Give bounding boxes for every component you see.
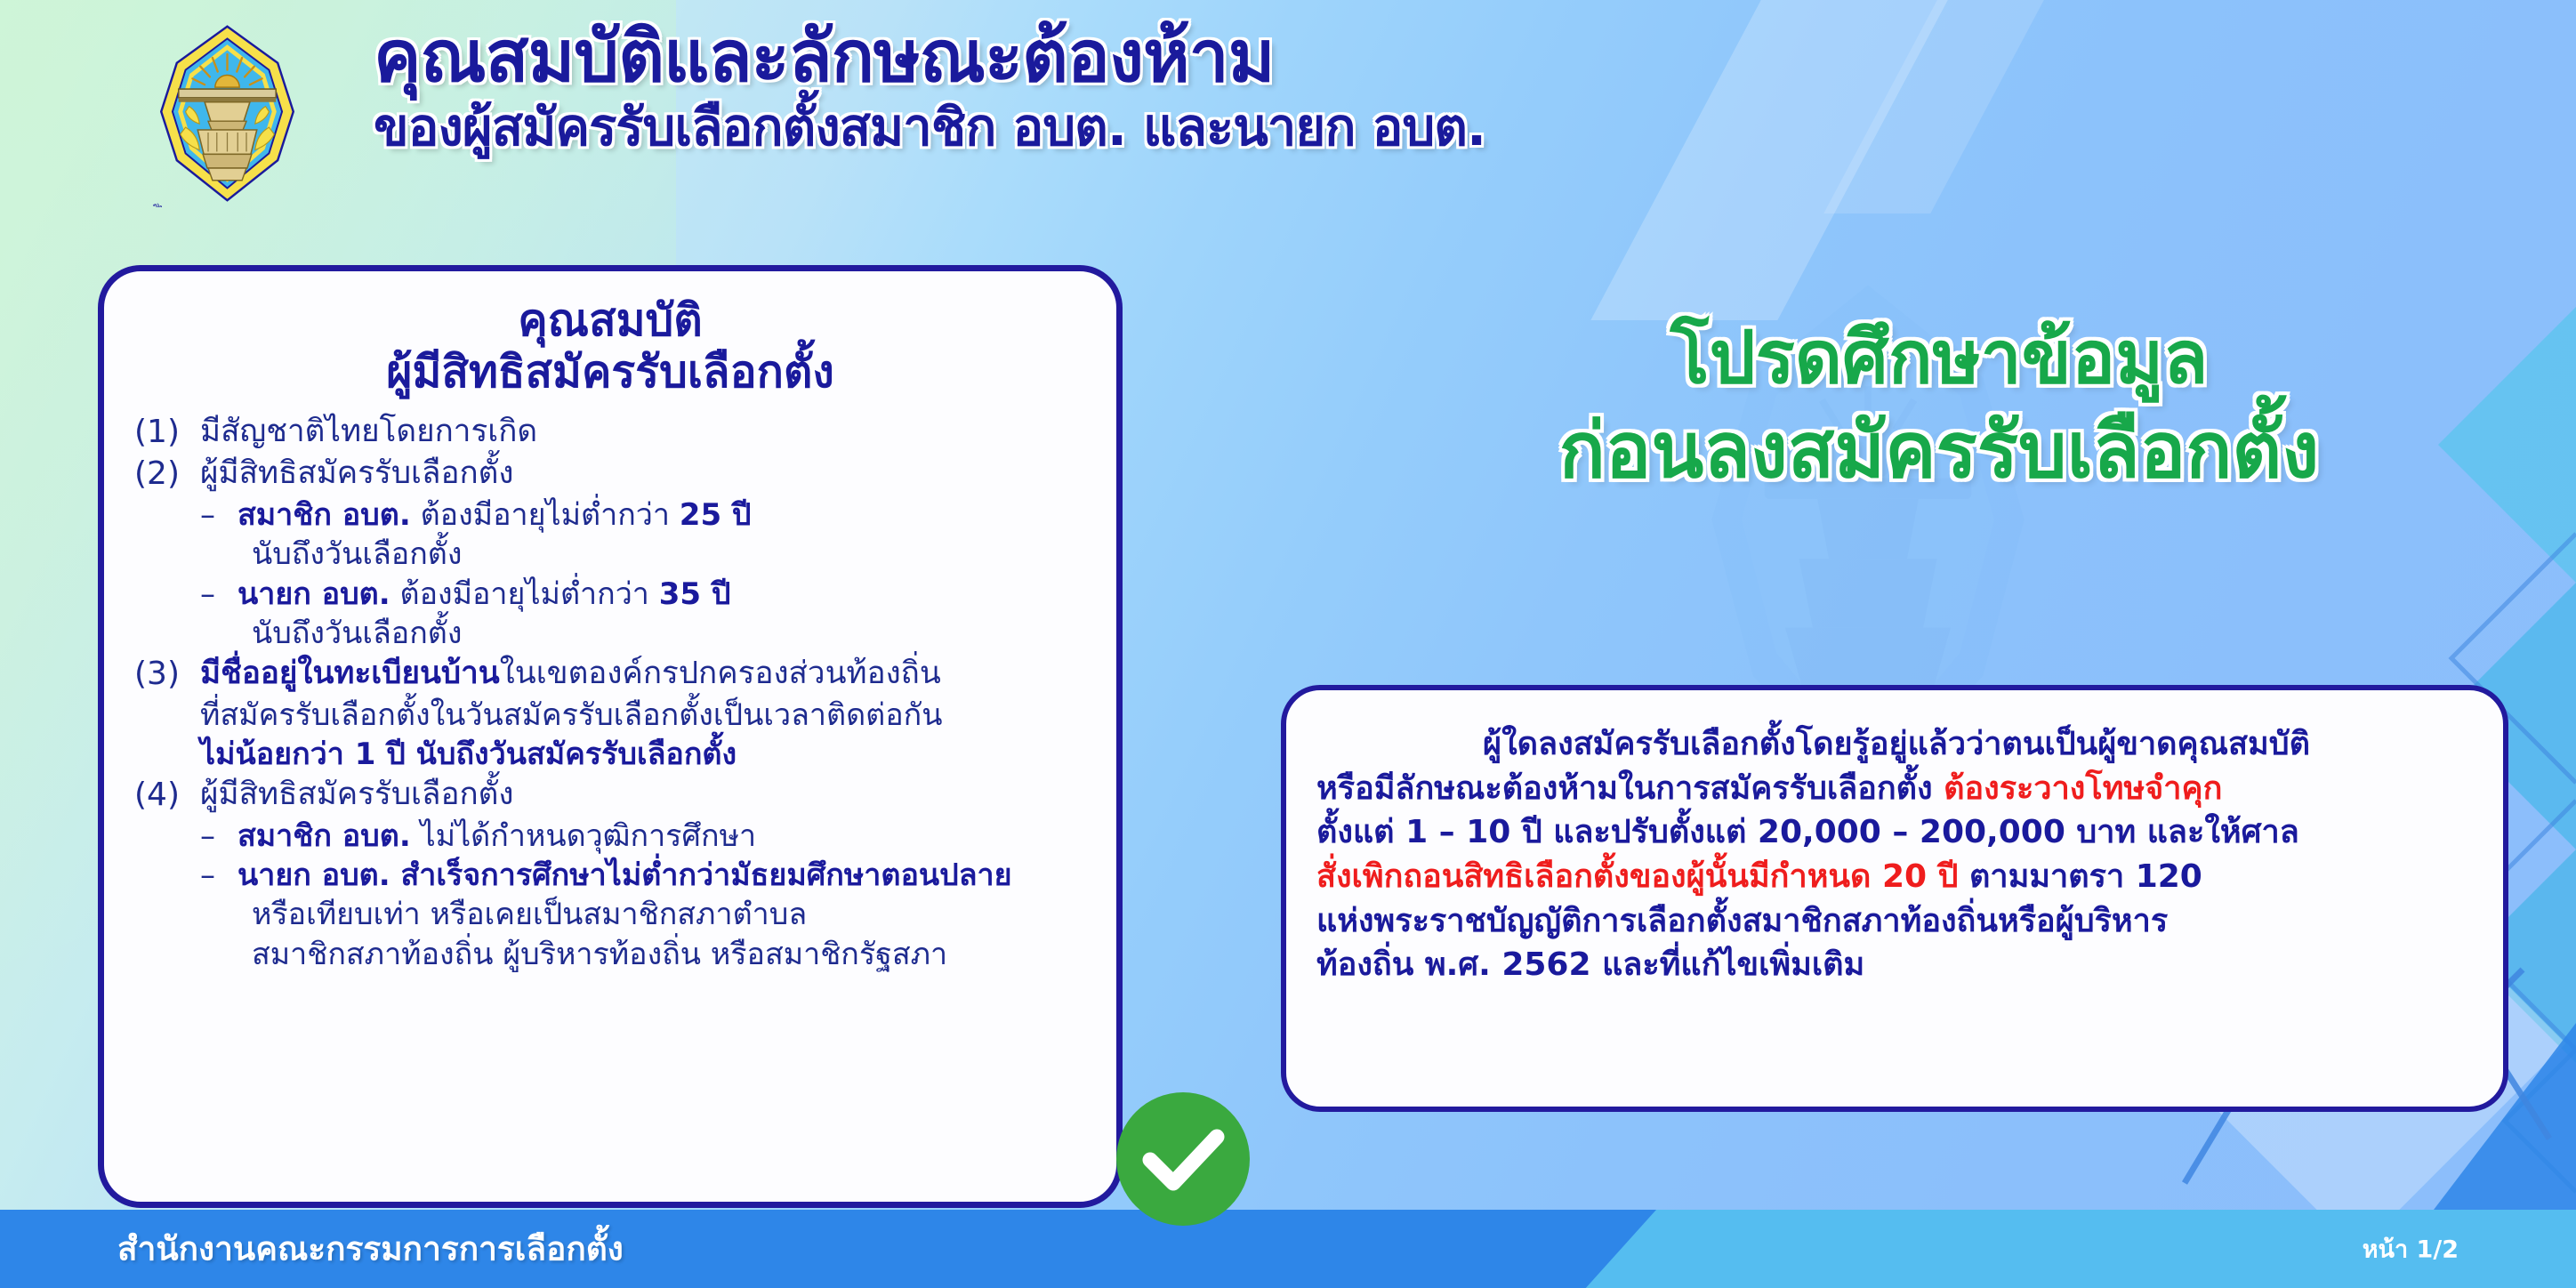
penalty-line-2-blue: หรือมีลักษณะต้องห้ามในการสมัครรับเลือกตั… [1316,770,1944,807]
dash-marker: – [200,856,237,895]
svg-text:สำนักงานคณะกรรมการการเลือกตั้ง: สำนักงานคณะกรรมการการเลือกตั้ง [150,202,272,207]
qualifications-heading-line-1: คุณสมบัติ [134,294,1086,346]
dash-marker: – [200,495,237,535]
study-info-line-2: ก่อนลงสมัครรับเลือกตั้ง [1316,404,2562,499]
footer: สำนักงานคณะกรรมการการเลือกตั้ง หน้า 1/2 [0,1210,2576,1288]
item-text: มีสัญชาติไทยโดยการเกิด [200,412,1086,453]
item-number: (2) [134,454,200,495]
footer-page-number: หน้า 1/2 [2363,1230,2459,1268]
title-line-1: คุณสมบัติและลักษณะต้องห้าม [374,20,1485,94]
sub-item-continuation: นับถึงวันเลือกตั้ง [134,614,1086,654]
study-info-line-1: โปรดศึกษาข้อมูล [1316,313,2562,404]
qualifications-card-heading: คุณสมบัติ ผู้มีสิทธิสมัครรับเลือกตั้ง [134,294,1086,398]
study-info-heading: โปรดศึกษาข้อมูล ก่อนลงสมัครรับเลือกตั้ง [1316,313,2562,498]
item-number: (3) [134,654,200,696]
sub-item-value: 25 ปี [680,497,752,533]
sub-item: – นายก อบต. สำเร็จการศึกษาไม่ต่ำกว่ามัธย… [134,856,1086,895]
qualifications-heading-line-2: ผู้มีสิทธิสมัครรับเลือกตั้ง [134,346,1086,398]
sub-item-text: สมาชิก อบต. ไม่ได้กำหนดวุฒิการศึกษา [237,817,756,856]
penalty-line-4-red: สั่งเพิกถอนสิทธิเลือกตั้งของผู้นั้นมีกำห… [1316,858,1969,895]
penalty-line-3: ตั้งแต่ 1 – 10 ปี และปรับตั้งแต่ 20,000 … [1316,810,2476,855]
sub-item-rest: ไม่ได้กำหนดวุฒิการศึกษา [411,818,756,854]
sub-item: – สมาชิก อบต. ไม่ได้กำหนดวุฒิการศึกษา [134,817,1086,856]
check-circle-icon [1116,1092,1250,1226]
dash-marker: – [200,817,237,856]
thai-election-commission-emblem-icon: สำนักงานคณะกรรมการการเลือกตั้ง [132,16,323,207]
dash-marker: – [200,575,237,614]
sub-item-bold-full: นายก อบต. สำเร็จการศึกษาไม่ต่ำกว่ามัธยมศ… [237,856,1012,895]
sub-item-text: นายก อบต. ต้องมีอายุไม่ต่ำกว่า 35 ปี [237,575,730,614]
penalty-line-4: สั่งเพิกถอนสิทธิเลือกตั้งของผู้นั้นมีกำห… [1316,855,2476,899]
sub-item-bold: นายก อบต. [237,576,390,612]
list-item: (1) มีสัญชาติไทยโดยการเกิด [134,412,1086,454]
penalty-line-2-red: ต้องระวางโทษจำคุก [1944,770,2222,807]
item-text-rest: ในเขตองค์กรปกครองส่วนท้องถิ่น [500,656,941,691]
sub-item-text: สมาชิก อบต. ต้องมีอายุไม่ต่ำกว่า 25 ปี [237,495,752,535]
penalty-line-5: แห่งพระราชบัญญัติการเลือกตั้งสมาชิกสภาท้… [1316,899,2476,944]
item-text: ผู้มีสิทธิสมัครรับเลือกตั้ง [200,775,1086,816]
sub-item-continuation: นับถึงวันเลือกตั้ง [134,535,1086,575]
sub-item: – นายก อบต. ต้องมีอายุไม่ต่ำกว่า 35 ปี [134,575,1086,614]
title-line-2: ของผู้สมัครรับเลือกตั้งสมาชิก อบต. และนา… [374,98,1485,157]
item-text: มีชื่ออยู่ในทะเบียนบ้านในเขตองค์กรปกครอง… [200,654,1086,695]
list-item: (2) ผู้มีสิทธิสมัครรับเลือกตั้ง [134,454,1086,495]
list-item: (4) ผู้มีสิทธิสมัครรับเลือกตั้ง [134,775,1086,817]
sub-item-value: 35 ปี [659,576,731,612]
item-number: (1) [134,412,200,454]
sub-item: – สมาชิก อบต. ต้องมีอายุไม่ต่ำกว่า 25 ปี [134,495,1086,535]
qualifications-card: คุณสมบัติ ผู้มีสิทธิสมัครรับเลือกตั้ง (1… [98,265,1123,1208]
page-title: คุณสมบัติและลักษณะต้องห้าม ของผู้สมัครรั… [374,20,1485,157]
sub-item-continuation: หรือเทียบเท่า หรือเคยเป็นสมาชิกสภาตำบล [134,895,1086,935]
sub-item-bold: สมาชิก อบต. [237,497,411,533]
penalty-line-4-blue: ตามมาตรา 120 [1969,858,2202,895]
item-text-bold: มีชื่ออยู่ในทะเบียนบ้าน [200,656,500,691]
item-text: ผู้มีสิทธิสมัครรับเลือกตั้ง [200,454,1086,495]
item-line-3: ไม่น้อยกว่า 1 ปี นับถึงวันสมัครรับเลือกต… [134,735,1086,775]
item-number: (4) [134,775,200,817]
footer-organization: สำนักงานคณะกรรมการการเลือกตั้ง [117,1223,624,1276]
sub-item-rest: ต้องมีอายุไม่ต่ำกว่า [411,497,680,533]
penalty-line-6: ท้องถิ่น พ.ศ. 2562 และที่แก้ไขเพิ่มเติม [1316,943,2476,987]
header: สำนักงานคณะกรรมการการเลือกตั้ง คุณสมบัติ… [0,0,2576,267]
sub-item-rest: ต้องมีอายุไม่ต่ำกว่า [390,576,659,612]
item-line-2: ที่สมัครรับเลือกตั้งในวันสมัครรับเลือกตั… [134,696,1086,736]
qualifications-list: (1) มีสัญชาติไทยโดยการเกิด (2) ผู้มีสิทธ… [134,412,1086,975]
sub-item-continuation: สมาชิกสภาท้องถิ่น ผู้บริหารท้องถิ่น หรือ… [134,935,1086,975]
penalty-line-2: หรือมีลักษณะต้องห้ามในการสมัครรับเลือกตั… [1316,767,2476,811]
penalty-card: ผู้ใดลงสมัครรับเลือกตั้งโดยรู้อยู่แล้วว่… [1281,685,2508,1112]
penalty-line-1: ผู้ใดลงสมัครรับเลือกตั้งโดยรู้อยู่แล้วว่… [1316,722,2476,767]
sub-item-bold: สมาชิก อบต. [237,818,411,854]
list-item: (3) มีชื่ออยู่ในทะเบียนบ้านในเขตองค์กรปก… [134,654,1086,696]
